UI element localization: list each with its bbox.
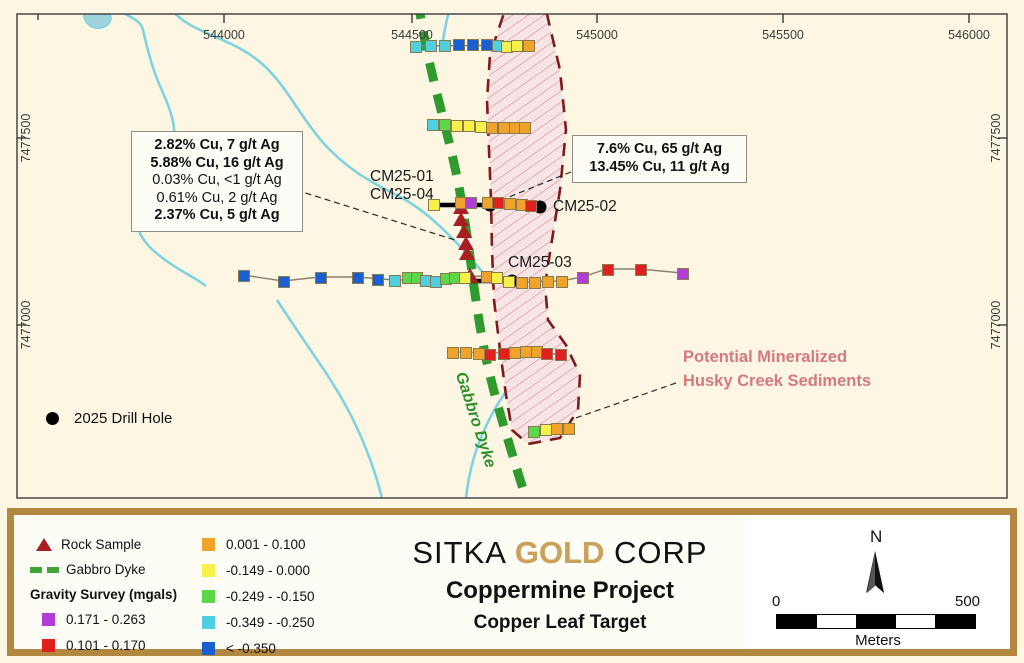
legend-class-right-1[interactable]: -0.149 - 0.000 (202, 563, 310, 578)
logo-corp: CORP (604, 535, 707, 570)
legend-class-right-0[interactable]: 0.001 - 0.100 (202, 537, 306, 552)
logo-gold: GOLD (515, 535, 605, 570)
target-title: Copper Leaf Target (374, 612, 746, 634)
title-block-panel: Rock Sample Gabbro Dyke Gravity Survey (… (7, 508, 1017, 656)
legend-class-right-label-0: 0.001 - 0.100 (226, 537, 306, 552)
legend-item-gabbro-dyke[interactable]: Gabbro Dyke (30, 562, 146, 577)
y-axis-label-left-0: 7477500 (19, 114, 33, 163)
legend-class-right-label-2: -0.249 - -0.150 (226, 589, 315, 604)
color-swatch-icon (202, 642, 215, 655)
color-swatch-icon (202, 616, 215, 629)
drill-hole-label-cm25-02: CM25-02 (553, 198, 617, 216)
assay-left-line-0: 2.82% Cu, 7 g/t Ag (141, 137, 293, 155)
assay-right-line-0: 7.6% Cu, 65 g/t Ag (582, 141, 737, 159)
legend-class-left-label-0: 0.171 - 0.263 (66, 612, 146, 627)
assay-right-line-1: 13.45% Cu, 11 g/t Ag (582, 159, 737, 177)
legend-class-left-0[interactable]: 0.171 - 0.263 (42, 612, 146, 627)
logo-sitka: SITKA (412, 535, 514, 570)
scalebar-panel: N 0 500 Meters (746, 515, 1010, 649)
x-axis-label-0: 544000 (203, 28, 245, 42)
color-swatch-icon (42, 639, 55, 652)
assay-left-line-3: 0.61% Cu, 2 g/t Ag (141, 190, 293, 208)
drill-collar-cm25-03 (506, 275, 519, 288)
drill-collar-cm25-02 (534, 201, 547, 214)
triangle-icon (36, 538, 52, 551)
color-swatch-icon (42, 613, 55, 626)
legend-header-gravity: Gravity Survey (mgals) (30, 587, 177, 602)
x-axis-label-4: 546000 (948, 28, 990, 42)
scalebar-min: 0 (772, 593, 780, 610)
x-axis-label-3: 545500 (762, 28, 804, 42)
drill-hole-legend-label: 2025 Drill Hole (74, 410, 172, 427)
color-swatch-icon (202, 564, 215, 577)
assay-left-line-2: 0.03% Cu, <1 g/t Ag (141, 172, 293, 190)
dashed-line-icon (30, 567, 60, 573)
legend-class-left-1[interactable]: 0.101 - 0.170 (42, 638, 146, 653)
drill-collar-cm25-01 (484, 199, 497, 212)
legend-class-right-label-4: < -0.350 (226, 641, 276, 656)
y-axis-label-right-1: 7477000 (989, 301, 1003, 350)
legend-class-left-label-1: 0.101 - 0.170 (66, 638, 146, 653)
legend-label-rock-sample: Rock Sample (61, 537, 141, 552)
assay-callout-left: 2.82% Cu, 7 g/t Ag5.88% Cu, 16 g/t Ag0.0… (131, 131, 303, 232)
legend-label-gabbro-dyke: Gabbro Dyke (66, 562, 146, 577)
y-axis-label-left-1: 7477000 (19, 301, 33, 350)
drill-hole-legend-dot (46, 412, 59, 425)
x-axis-label-2: 545000 (576, 28, 618, 42)
map-canvas[interactable]: 544000544500545000545500546000 7477500 7… (0, 0, 1024, 512)
scalebar-max: 500 (955, 593, 980, 610)
target-label-line2: Husky Creek Sediments (683, 371, 871, 392)
assay-left-line-1: 5.88% Cu, 16 g/t Ag (141, 155, 293, 173)
color-swatch-icon (202, 590, 215, 603)
company-logo: SITKA GOLD CORP (374, 535, 746, 571)
title-panel: SITKA GOLD CORP Coppermine Project Coppe… (374, 515, 746, 649)
legend-class-right-3[interactable]: -0.349 - -0.250 (202, 615, 315, 630)
drill-hole-label-cm25-04: CM25-04 (370, 186, 434, 204)
x-axis-label-1: 544500 (391, 28, 433, 42)
legend-class-right-label-1: -0.149 - 0.000 (226, 563, 310, 578)
drill-hole-label-cm25-01: CM25-01 (370, 168, 434, 186)
target-label-line1: Potential Mineralized (683, 347, 847, 368)
assay-callout-right: 7.6% Cu, 65 g/t Ag13.45% Cu, 11 g/t Ag (572, 135, 747, 183)
color-swatch-icon (202, 538, 215, 551)
scalebar-graphic (776, 614, 976, 629)
scalebar-units: Meters (746, 632, 1010, 649)
drill-hole-label-cm25-03: CM25-03 (508, 254, 572, 272)
y-axis-label-right-0: 7477500 (989, 114, 1003, 163)
assay-left-line-4: 2.37% Cu, 5 g/t Ag (141, 207, 293, 225)
map-figure: 544000544500545000545500546000 7477500 7… (0, 0, 1024, 663)
legend-class-right-2[interactable]: -0.249 - -0.150 (202, 589, 315, 604)
legend-class-right-label-3: -0.349 - -0.250 (226, 615, 315, 630)
legend-panel: Rock Sample Gabbro Dyke Gravity Survey (… (14, 515, 374, 649)
project-title: Coppermine Project (374, 577, 746, 605)
legend-item-rock-sample[interactable]: Rock Sample (36, 537, 141, 552)
legend-class-right-4[interactable]: < -0.350 (202, 641, 276, 656)
